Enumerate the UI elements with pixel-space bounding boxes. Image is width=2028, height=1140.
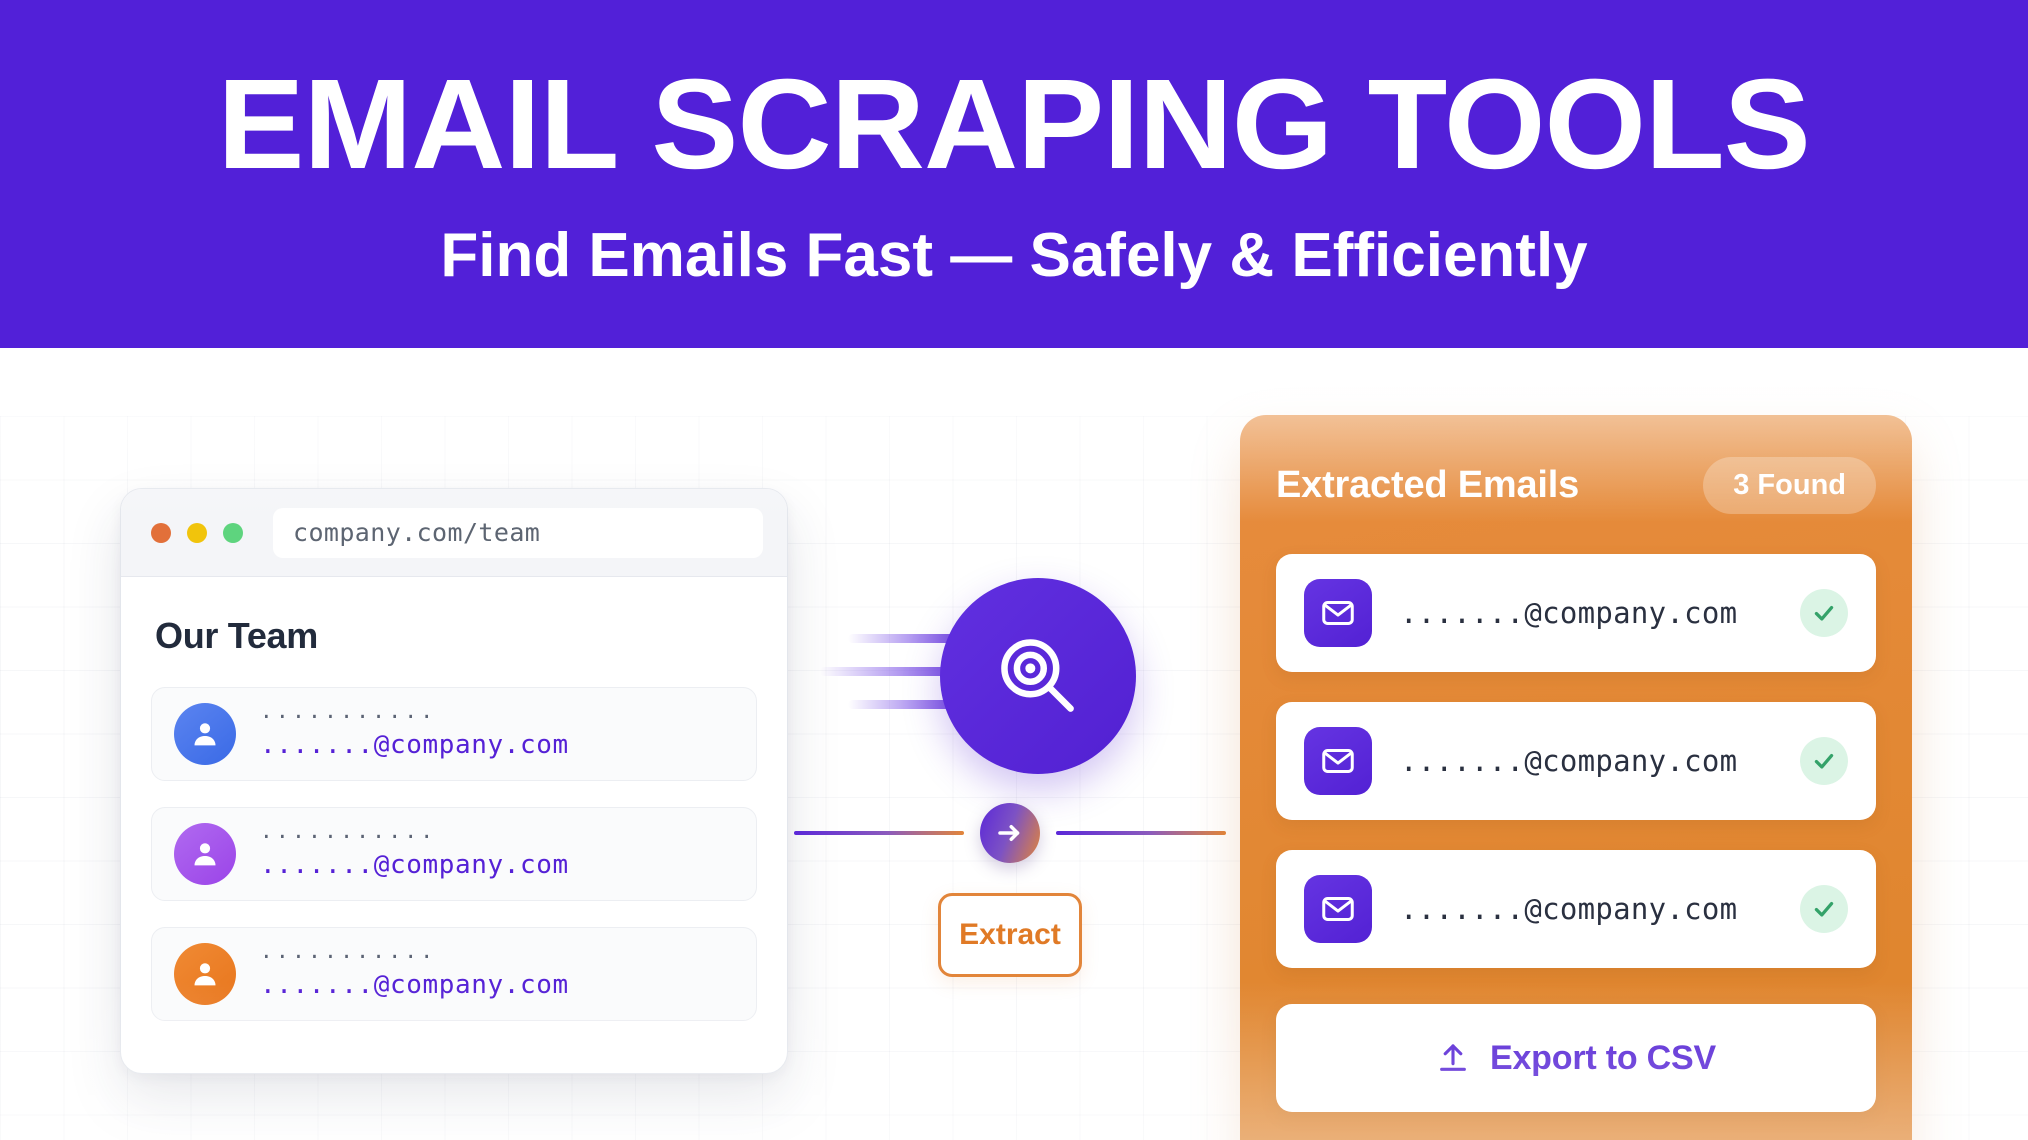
minimize-dot-icon[interactable] [187,523,207,543]
scan-circle [940,578,1136,774]
avatar [174,703,236,765]
email-result-row[interactable]: .......@company.com [1276,850,1876,968]
team-member-row[interactable]: ··········· .......@company.com [151,687,757,781]
email-address: .......@company.com [1400,596,1772,630]
email-result-row[interactable]: .......@company.com [1276,702,1876,820]
panel-title: Extracted Emails [1276,464,1579,507]
verified-check-icon [1800,885,1848,933]
email-result-row[interactable]: .......@company.com [1276,554,1876,672]
team-heading: Our Team [155,615,757,657]
search-target-icon [992,630,1084,722]
team-member-info: ··········· .......@company.com [260,827,569,881]
member-name-redacted: ··········· [260,707,569,728]
flow-arrow-button[interactable] [980,803,1040,863]
flow-line-right [1056,831,1226,835]
flow-track [780,803,1240,863]
email-address: .......@company.com [1400,892,1772,926]
member-email-redacted: .......@company.com [260,851,569,881]
traffic-lights [145,523,243,543]
close-dot-icon[interactable] [151,523,171,543]
extracted-emails-panel: Extracted Emails 3 Found .......@company… [1240,415,1912,1140]
verified-check-icon [1800,737,1848,785]
arrow-right-icon [995,818,1025,848]
envelope-icon [1304,727,1372,795]
team-member-row[interactable]: ··········· .......@company.com [151,807,757,901]
extract-button-label: Extract [959,918,1061,952]
member-email-redacted: .......@company.com [260,731,569,761]
browser-content: Our Team ··········· .......@company.com [121,577,787,1074]
found-count-badge: 3 Found [1703,457,1876,514]
team-member-info: ··········· .......@company.com [260,707,569,761]
browser-mockup: company.com/team Our Team ··········· ..… [120,488,788,1074]
email-address: .......@company.com [1400,744,1772,778]
team-member-row[interactable]: ··········· .......@company.com [151,927,757,1021]
export-to-csv-button[interactable]: Export to CSV [1276,1004,1876,1112]
member-name-redacted: ··········· [260,827,569,848]
upload-icon [1436,1041,1470,1075]
illustration-stage: company.com/team Our Team ··········· ..… [0,348,2028,1140]
flow-line-left [794,831,964,835]
verified-check-icon [1800,589,1848,637]
avatar [174,943,236,1005]
url-input[interactable]: company.com/team [273,508,763,558]
header-banner: EMAIL SCRAPING TOOLS Find Emails Fast — … [0,0,2028,348]
envelope-icon [1304,579,1372,647]
browser-toolbar: company.com/team [121,489,787,577]
page-subtitle: Find Emails Fast — Safely & Efficiently [440,225,1587,287]
panel-header: Extracted Emails 3 Found [1276,457,1876,514]
member-name-redacted: ··········· [260,947,569,968]
avatar [174,823,236,885]
envelope-icon [1304,875,1372,943]
member-email-redacted: .......@company.com [260,971,569,1001]
page-title: EMAIL SCRAPING TOOLS [218,61,1810,189]
center-connector: Extract [780,348,1240,1140]
team-member-info: ··········· .......@company.com [260,947,569,1001]
maximize-dot-icon[interactable] [223,523,243,543]
export-button-label: Export to CSV [1490,1039,1716,1078]
extract-button[interactable]: Extract [938,893,1082,977]
